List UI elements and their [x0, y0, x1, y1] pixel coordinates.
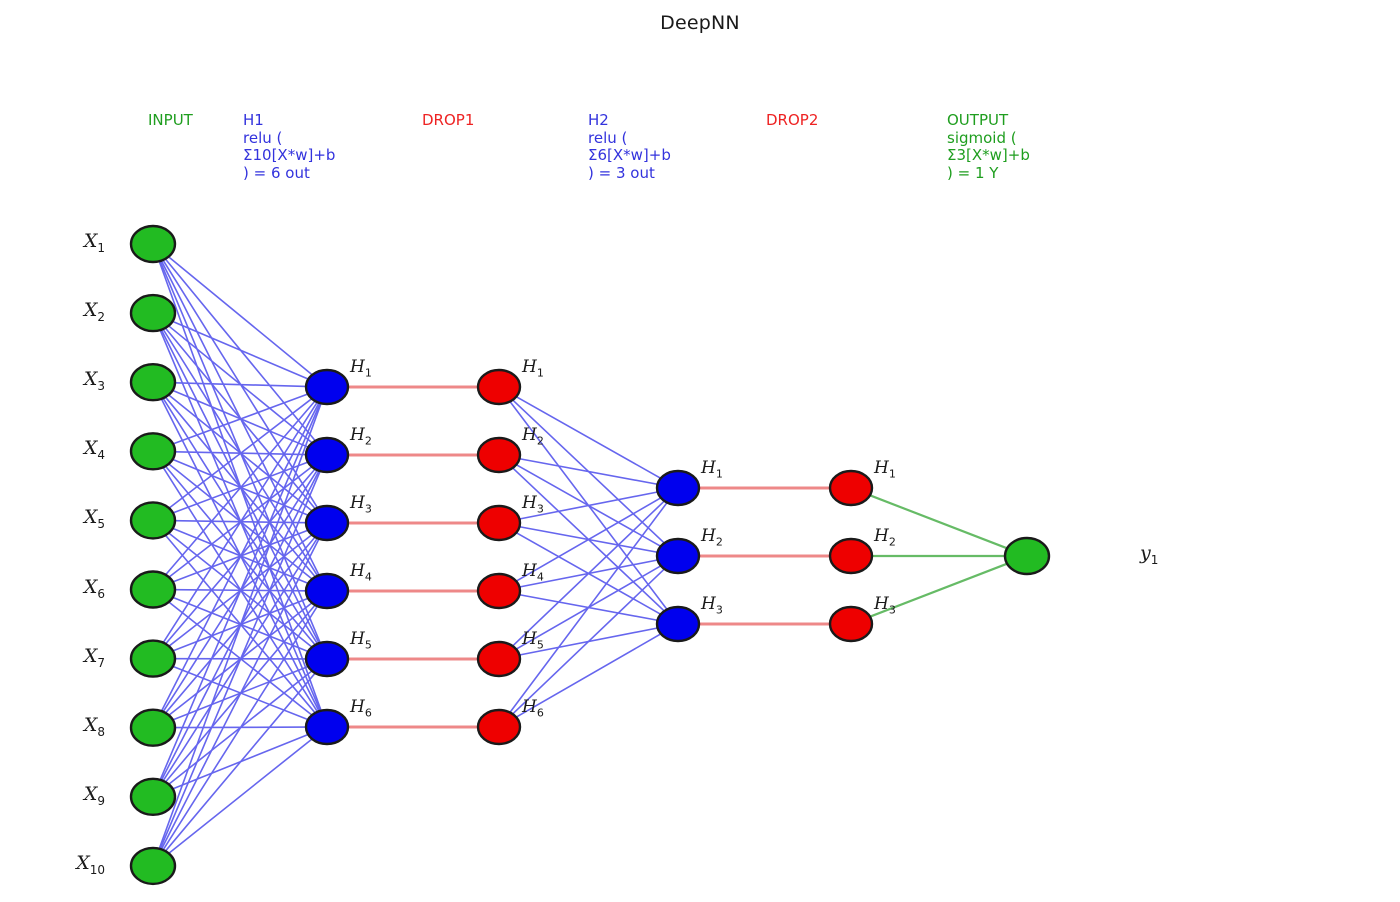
edge-input-to-h1 — [169, 399, 312, 508]
node-label-h1-2: H2 — [350, 425, 372, 447]
node-h2-3[interactable] — [657, 607, 699, 641]
layer-header-drop2: DROP2 — [766, 112, 818, 130]
node-label-input-2: X2 — [84, 299, 105, 324]
node-label-h2-3: H3 — [701, 594, 723, 616]
node-input-8[interactable] — [131, 710, 175, 746]
node-label-drop1-6: H6 — [522, 697, 544, 719]
node-h1-5[interactable] — [306, 642, 348, 676]
edges-group — [159, 257, 1007, 854]
node-label-drop1-5: H5 — [522, 629, 544, 651]
node-label-input-7: X7 — [84, 645, 105, 670]
node-drop1-5[interactable] — [478, 642, 520, 676]
node-label-h1-4: H4 — [350, 561, 372, 583]
node-h1-2[interactable] — [306, 438, 348, 472]
node-label-h2-2: H2 — [701, 526, 723, 548]
edge-input-to-h1 — [160, 471, 320, 849]
node-drop1-6[interactable] — [478, 710, 520, 744]
node-h1-3[interactable] — [306, 506, 348, 540]
node-drop2-3[interactable] — [830, 607, 872, 641]
node-drop1-1[interactable] — [478, 370, 520, 404]
node-label-input-9: X9 — [84, 783, 105, 808]
node-h1-1[interactable] — [306, 370, 348, 404]
node-label-drop2-3: H3 — [874, 594, 896, 616]
edge-input-to-h1 — [169, 739, 312, 853]
node-drop1-4[interactable] — [478, 574, 520, 608]
node-input-2[interactable] — [131, 295, 175, 331]
node-input-5[interactable] — [131, 502, 175, 538]
node-drop1-3[interactable] — [478, 506, 520, 540]
node-label-drop2-1: H1 — [874, 458, 896, 480]
node-label-input-10: X10 — [76, 852, 105, 877]
edge-input-to-h1 — [173, 394, 308, 444]
node-label-input-5: X5 — [84, 506, 105, 531]
node-label-drop1-2: H2 — [522, 425, 544, 447]
node-input-4[interactable] — [131, 433, 175, 469]
layer-header-h1: H1 relu ( Σ10[X*w]+b ) = 6 out — [243, 112, 335, 182]
node-label-input-6: X6 — [84, 576, 105, 601]
node-label-input-8: X8 — [84, 714, 105, 739]
node-h1-6[interactable] — [306, 710, 348, 744]
edge-input-to-h1 — [161, 539, 319, 850]
node-label-h1-3: H3 — [350, 493, 372, 515]
node-h2-2[interactable] — [657, 539, 699, 573]
node-input-3[interactable] — [131, 364, 175, 400]
node-label-output-1: y1 — [1140, 542, 1158, 567]
node-label-h1-5: H5 — [350, 629, 372, 651]
node-label-input-4: X4 — [84, 437, 105, 462]
node-input-9[interactable] — [131, 779, 175, 815]
layer-header-h2: H2 relu ( Σ6[X*w]+b ) = 3 out — [588, 112, 671, 182]
node-h2-1[interactable] — [657, 471, 699, 505]
edge-input-to-h1 — [173, 321, 309, 379]
node-drop1-2[interactable] — [478, 438, 520, 472]
layer-header-drop1: DROP1 — [422, 112, 474, 130]
node-input-6[interactable] — [131, 572, 175, 608]
layer-header-input: INPUT — [148, 112, 193, 130]
node-input-7[interactable] — [131, 641, 175, 677]
node-drop2-1[interactable] — [830, 471, 872, 505]
node-label-h1-1: H1 — [350, 357, 372, 379]
node-h1-4[interactable] — [306, 574, 348, 608]
node-label-h2-1: H1 — [701, 458, 723, 480]
node-label-drop1-3: H3 — [522, 493, 544, 515]
node-label-input-1: X1 — [84, 230, 105, 255]
node-drop2-2[interactable] — [830, 539, 872, 573]
edge-drop1-to-h2 — [510, 503, 667, 713]
node-output-1[interactable] — [1005, 538, 1049, 574]
node-label-drop1-1: H1 — [522, 357, 544, 379]
node-label-input-3: X3 — [84, 368, 105, 393]
node-label-drop2-2: H2 — [874, 526, 896, 548]
network-graph-svg — [0, 0, 1400, 902]
node-label-h1-6: H6 — [350, 697, 372, 719]
edge-drop1-to-h2 — [519, 459, 657, 484]
node-input-1[interactable] — [131, 226, 175, 262]
node-input-10[interactable] — [131, 848, 175, 884]
node-label-drop1-4: H4 — [522, 561, 544, 583]
network-diagram-canvas: DeepNN INPUTH1 relu ( Σ10[X*w]+b ) = 6 o… — [0, 0, 1400, 902]
layer-header-output: OUTPUT sigmoid ( Σ3[X*w]+b ) = 1 Y — [947, 112, 1030, 182]
